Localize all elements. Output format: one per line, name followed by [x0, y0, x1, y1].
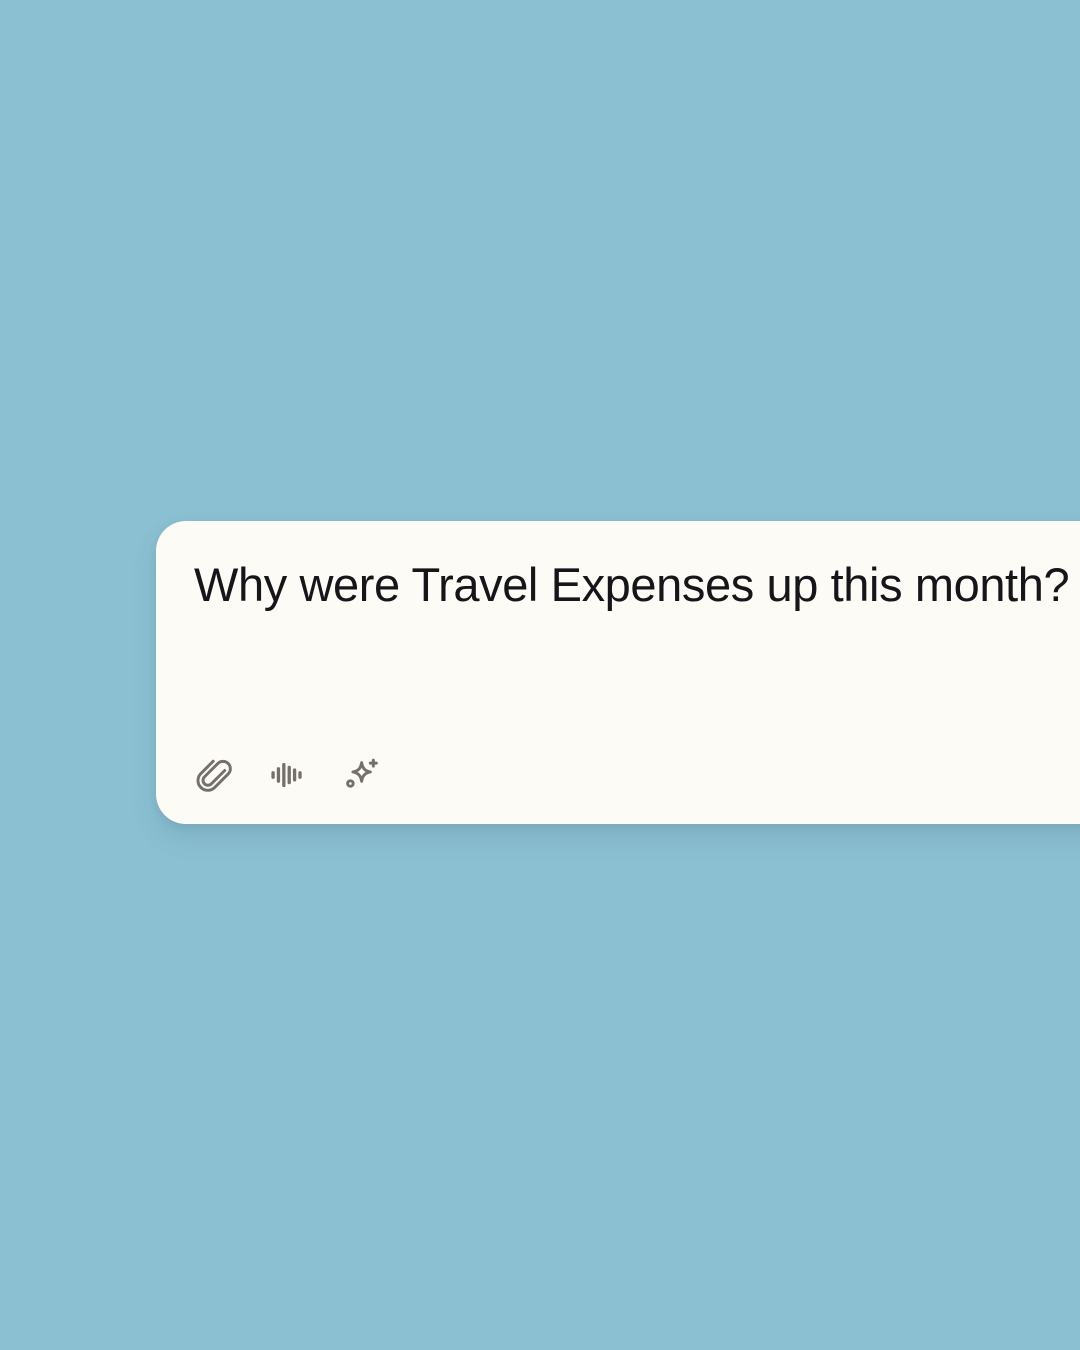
paperclip-icon: [194, 756, 232, 794]
composer-card: Why were Travel Expenses up this month?: [156, 521, 1080, 824]
attach-file-button[interactable]: [190, 752, 236, 798]
sparkle-plus-icon: [342, 756, 380, 794]
app-canvas: Why were Travel Expenses up this month?: [0, 0, 1080, 1350]
composer-toolbar: [190, 752, 384, 798]
prompt-input[interactable]: Why were Travel Expenses up this month?: [194, 556, 1076, 613]
voice-input-button[interactable]: [264, 752, 310, 798]
waveform-icon: [268, 756, 306, 794]
ai-assist-button[interactable]: [338, 752, 384, 798]
